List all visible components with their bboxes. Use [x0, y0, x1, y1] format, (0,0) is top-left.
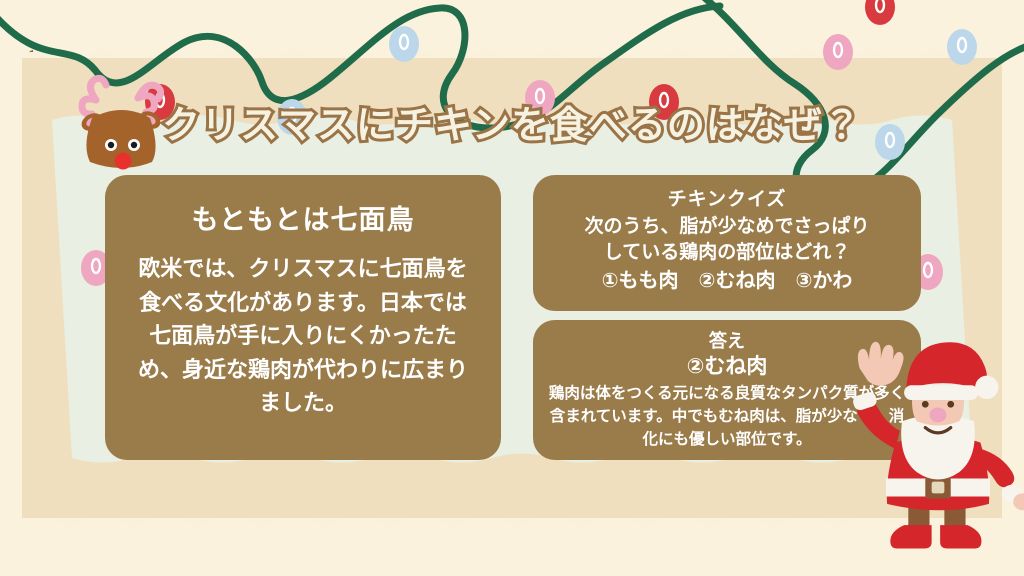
quiz-question-line2: している鶏肉の部位はどれ？: [547, 239, 907, 265]
answer-body: 鶏肉は体をつくる元になる良質なタンパク質が多く含まれています。中でもむね肉は、脂…: [547, 382, 907, 451]
page-title: クリスマスにチキンを食べるのはなぜ？: [162, 106, 862, 144]
card-origin: もともとは七面鳥 欧米では、クリスマスに七面鳥を食べる文化があります。日本では七…: [105, 175, 501, 460]
card-answer: 答え ②むね肉 鶏肉は体をつくる元になる良質なタンパク質が多く含まれています。中…: [533, 320, 921, 460]
page-title-row: クリスマスにチキンを食べるのはなぜ？: [0, 92, 1024, 158]
answer-choice: ②むね肉: [547, 353, 907, 379]
quiz-heading: チキンクイズ: [547, 187, 907, 213]
origin-body: 欧米では、クリスマスに七面鳥を食べる文化があります。日本では七面鳥が手に入りにく…: [131, 253, 475, 420]
slide-canvas: クリスマスにチキンを食べるのはなぜ？ もともとは七面鳥 欧米では、クリスマスに七…: [0, 0, 1024, 576]
quiz-options: ①もも肉 ②むね肉 ③かわ: [547, 266, 907, 294]
card-quiz: チキンクイズ 次のうち、脂が少なめでさっぱり している鶏肉の部位はどれ？ ①もも…: [533, 175, 921, 311]
answer-heading: 答え: [547, 330, 907, 353]
origin-heading: もともとは七面鳥: [192, 205, 415, 237]
quiz-question-line1: 次のうち、脂が少なめでさっぱり: [547, 213, 907, 239]
